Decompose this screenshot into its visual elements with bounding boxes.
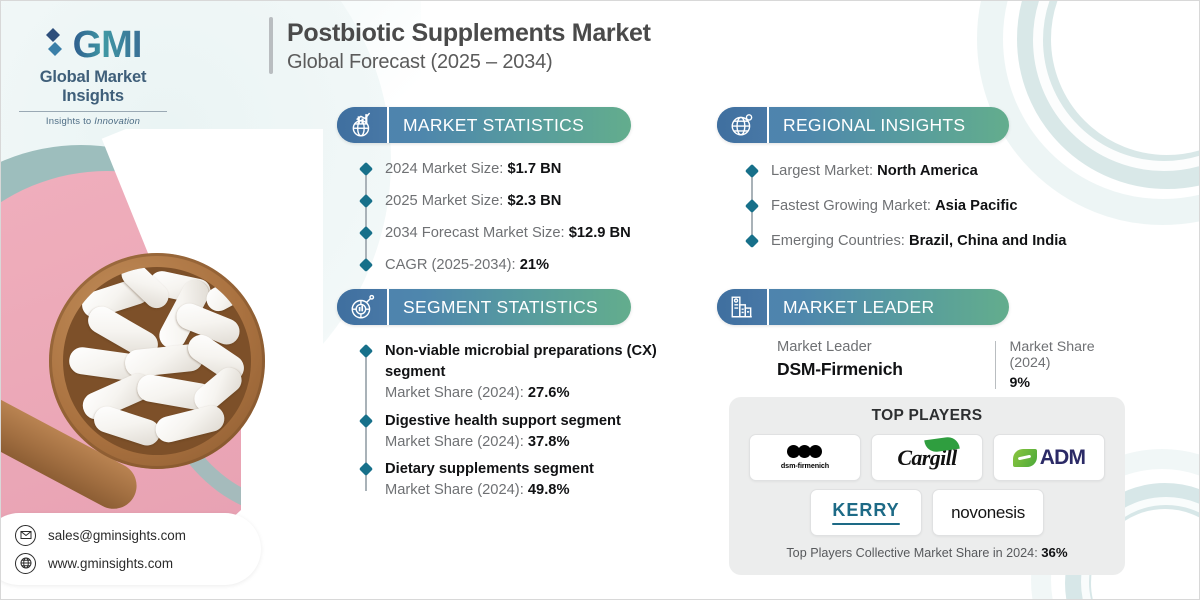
novonesis-logo: novonesis [951, 503, 1025, 523]
list-item: Largest Market: North America [747, 161, 1147, 182]
dsm-dots-icon [781, 445, 829, 458]
player-logo-card[interactable]: KERRY [810, 489, 922, 536]
factory-icon [717, 289, 769, 325]
top-players-footer-value: 36% [1041, 545, 1067, 560]
globe-icon [15, 553, 36, 574]
segment-heading: Digestive health support segment [385, 413, 621, 429]
market-leader-divider [995, 341, 996, 389]
segment-heading: Dietary supplements segment [385, 461, 594, 477]
segment-statistics-list: Non-viable microbial preparations (CX) s… [361, 341, 671, 501]
list-item-label: CAGR (2025-2034): [385, 257, 520, 273]
list-item-text: 2024 Market Size: $1.7 BN [385, 159, 561, 180]
top-players-title: TOP PLAYERS [743, 407, 1111, 425]
bullet-diamond-icon [359, 344, 373, 358]
list-item-value: 21% [520, 257, 549, 273]
bullet-diamond-icon [359, 462, 373, 476]
pie-target-icon [337, 289, 389, 325]
list-item-text: Fastest Growing Market: Asia Pacific [771, 196, 1018, 217]
list-item-label: Emerging Countries: [771, 233, 909, 249]
envelope-icon [15, 525, 36, 546]
section-title-segment-statistics: SEGMENT STATISTICS [389, 289, 618, 325]
list-item: Non-viable microbial preparations (CX) s… [361, 341, 671, 404]
list-item: Emerging Countries: Brazil, China and In… [747, 231, 1147, 252]
logo-tagline: Insights to Innovation [13, 116, 173, 127]
list-item-text: Emerging Countries: Brazil, China and In… [771, 231, 1066, 252]
section-header-market-statistics: MARKET STATISTICS [337, 107, 631, 143]
logo-divider [19, 111, 167, 112]
adm-logo: ADM [1013, 446, 1085, 470]
top-players-footer-label: Top Players Collective Market Share in 2… [786, 546, 1041, 560]
section-header-segment-statistics: SEGMENT STATISTICS [337, 289, 631, 325]
list-item: 2024 Market Size: $1.7 BN [361, 159, 691, 180]
list-item-text: CAGR (2025-2034): 21% [385, 255, 549, 276]
list-item: Dietary supplements segment Market Share… [361, 459, 671, 501]
bullet-diamond-icon [745, 199, 759, 213]
contact-email-row[interactable]: sales@gminsights.com [15, 525, 261, 546]
list-item-text: Largest Market: North America [771, 161, 978, 182]
title-accent-bar [269, 17, 273, 74]
market-leader-value: DSM-Firmenich [777, 359, 995, 380]
logo-tagline-emphasis: Innovation [94, 116, 140, 127]
player-logo-card[interactable]: Cargill [871, 434, 983, 481]
timeline-track [365, 168, 367, 266]
player-name: KERRY [832, 500, 899, 521]
product-photo [1, 129, 323, 549]
bullet-diamond-icon [745, 164, 759, 178]
contact-card: sales@gminsights.com www.gminsights.com [0, 513, 261, 585]
top-players-footer: Top Players Collective Market Share in 2… [743, 545, 1111, 560]
contact-email: sales@gminsights.com [48, 528, 186, 543]
kerry-logo: KERRY [832, 500, 899, 525]
market-leader-body: Market Leader DSM-Firmenich Market Share… [777, 339, 1137, 391]
list-item-label: 2025 Market Size: [385, 193, 507, 209]
bullet-diamond-icon [359, 162, 373, 176]
market-leader-share-block: Market Share (2024) 9% [1010, 339, 1138, 391]
list-item: 2025 Market Size: $2.3 BN [361, 191, 691, 212]
list-item-text: 2034 Forecast Market Size: $12.9 BN [385, 223, 631, 244]
gmi-logo: GMI Global Market Insights Insights to I… [13, 25, 173, 127]
globe-chart-icon [337, 107, 389, 143]
list-item-value: 27.6% [528, 385, 570, 401]
player-logo-card[interactable]: ADM [993, 434, 1105, 481]
list-item-value: 49.8% [528, 482, 570, 498]
list-item-value: $12.9 BN [569, 225, 631, 241]
kerry-underline [832, 523, 899, 525]
bullet-diamond-icon [359, 226, 373, 240]
bullet-diamond-icon [745, 234, 759, 248]
list-item-label: Market Share (2024): [385, 434, 528, 450]
section-title-regional-insights: REGIONAL INSIGHTS [769, 107, 985, 143]
list-item-label: 2024 Market Size: [385, 161, 507, 177]
list-item-text: 2025 Market Size: $2.3 BN [385, 191, 561, 212]
contact-website: www.gminsights.com [48, 556, 173, 571]
list-item-value: North America [877, 163, 978, 179]
list-item-label: Market Share (2024): [385, 385, 528, 401]
list-item-text: Digestive health support segment Market … [385, 411, 621, 453]
globe-pin-icon [717, 107, 769, 143]
logo-mark-row: GMI [13, 25, 173, 64]
list-item-value: 37.8% [528, 434, 570, 450]
list-item-label: Fastest Growing Market: [771, 198, 935, 214]
market-statistics-list: 2024 Market Size: $1.7 BN 2025 Market Si… [361, 159, 691, 276]
top-players-row-2: KERRY novonesis [743, 489, 1111, 536]
dsm-firmenich-logo: dsm-firmenich [781, 445, 829, 469]
market-leader-name-block: Market Leader DSM-Firmenich [777, 339, 995, 380]
list-item-text: Dietary supplements segment Market Share… [385, 459, 594, 501]
bullet-diamond-icon [359, 414, 373, 428]
list-item: Digestive health support segment Market … [361, 411, 671, 453]
player-name: ADM [1040, 446, 1085, 470]
market-leader-caption: Market Leader [777, 339, 995, 355]
subtitle-text: Global Forecast (2025 – 2034) [287, 51, 651, 74]
logo-wordmark: GMI [73, 26, 142, 64]
segment-heading: Non-viable microbial preparations (CX) s… [385, 343, 657, 380]
top-players-panel: TOP PLAYERS dsm-firmenich Cargill ADM [729, 397, 1125, 575]
capsules-group [63, 267, 251, 455]
list-item: 2034 Forecast Market Size: $12.9 BN [361, 223, 691, 244]
top-players-row-1: dsm-firmenich Cargill ADM [743, 434, 1111, 481]
market-share-caption: Market Share (2024) [1010, 339, 1138, 371]
list-item-text: Non-viable microbial preparations (CX) s… [385, 341, 671, 404]
title-text: Postbiotic Supplements Market [287, 17, 651, 49]
regional-insights-list: Largest Market: North America Fastest Gr… [747, 161, 1147, 252]
section-title-market-leader: MARKET LEADER [769, 289, 954, 325]
list-item-label: 2034 Forecast Market Size: [385, 225, 569, 241]
player-logo-card[interactable]: novonesis [932, 489, 1044, 536]
list-item-value: $2.3 BN [507, 193, 561, 209]
list-item-label: Largest Market: [771, 163, 877, 179]
contact-website-row[interactable]: www.gminsights.com [15, 553, 261, 574]
player-name: dsm-firmenich [781, 462, 829, 469]
top-right-ring-inner [1033, 1, 1199, 171]
capsule-pile [63, 267, 251, 455]
section-title-market-statistics: MARKET STATISTICS [389, 107, 604, 143]
player-name: novonesis [951, 503, 1025, 522]
section-header-market-leader: MARKET LEADER [717, 289, 1009, 325]
list-item-label: Market Share (2024): [385, 482, 528, 498]
list-item-value: $1.7 BN [507, 161, 561, 177]
list-item: Fastest Growing Market: Asia Pacific [747, 196, 1147, 217]
player-logo-card[interactable]: dsm-firmenich [749, 434, 861, 481]
logo-company-name: Global Market Insights [13, 68, 173, 106]
bullet-diamond-icon [359, 194, 373, 208]
list-item: CAGR (2025-2034): 21% [361, 255, 691, 276]
market-share-value: 9% [1010, 375, 1138, 391]
infographic-canvas: GMI Global Market Insights Insights to I… [0, 0, 1200, 600]
logo-tagline-prefix: Insights to [46, 116, 94, 127]
list-item-value: Brazil, China and India [909, 233, 1067, 249]
page-title: Postbiotic Supplements Market Global For… [269, 17, 651, 74]
leaf-icon [1013, 449, 1037, 467]
diamond-icon [45, 25, 71, 64]
bullet-diamond-icon [359, 258, 373, 272]
list-item-value: Asia Pacific [935, 198, 1017, 214]
cargill-logo: Cargill [897, 445, 956, 471]
section-header-regional-insights: REGIONAL INSIGHTS [717, 107, 1009, 143]
